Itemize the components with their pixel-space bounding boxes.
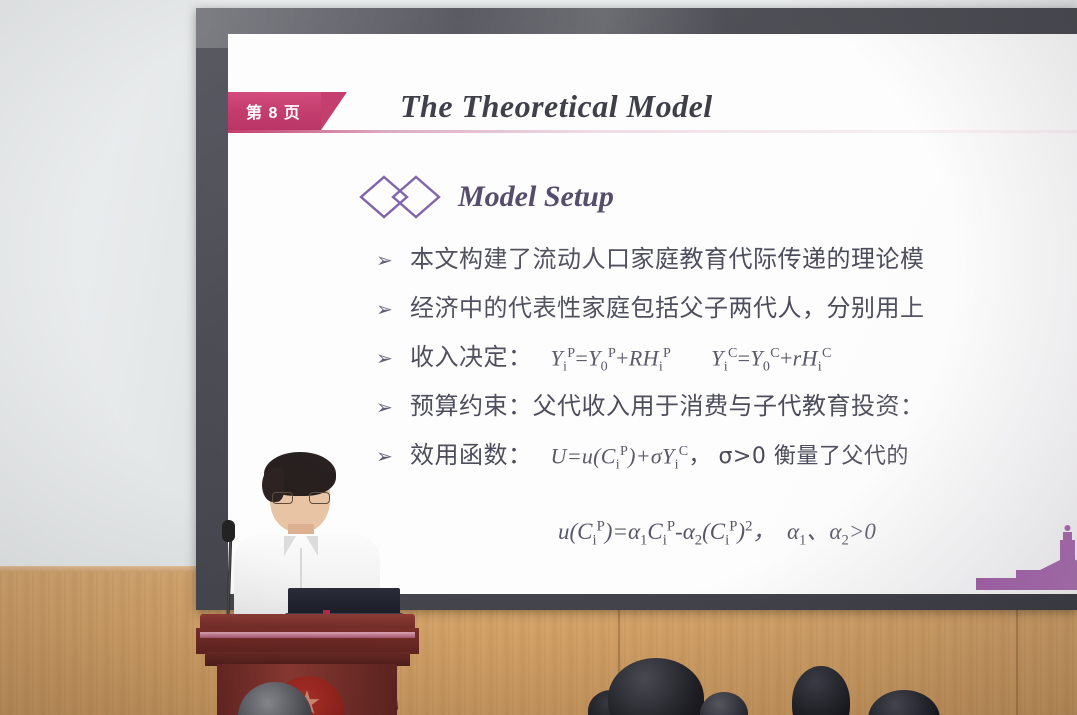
bullet-text: 经济中的代表性家庭包括父子两代人，分别用上	[410, 288, 925, 323]
shirt-collar-right	[306, 536, 318, 556]
laptop-screen[interactable]	[288, 588, 400, 616]
list-item: ➢ 收入决定： YiP=Y0P+RHiP YiC=Y0C+rHiC	[376, 337, 1077, 386]
bullet-label: 收入决定：	[410, 337, 533, 372]
podium-stripe	[200, 632, 415, 638]
utility-note: ， σ>0 衡量了父代的	[688, 438, 908, 470]
list-item: ➢ 效用函数： U=u(CiP)+σYiC ， σ>0 衡量了父代的	[376, 435, 1077, 484]
shirt-collar-left	[284, 536, 296, 556]
bullet-label: 效用函数：	[410, 435, 533, 470]
lecture-hall-scene: 第 8 页 The Theoretical Model Model Setup …	[0, 0, 1077, 715]
formula-sub-utility: u(CiP)=α1CiP-α2(CiP)2， α1、α2>0	[558, 512, 876, 550]
bullet-text: 本文构建了流动人口家庭教育代际传递的理论模	[410, 239, 925, 274]
list-item: ➢ 经济中的代表性家庭包括父子两代人，分别用上	[376, 288, 1077, 337]
slide-bullet-list: ➢ 本文构建了流动人口家庭教育代际传递的理论模 ➢ 经济中的代表性家庭包括父子两…	[376, 239, 1077, 484]
bullet-arrow-icon: ➢	[376, 397, 410, 417]
bullet-arrow-icon: ➢	[376, 299, 410, 319]
bullet-arrow-icon: ➢	[376, 250, 410, 270]
formula-income-child: YiC=Y0C+rHiC	[711, 345, 831, 376]
header-rule	[228, 130, 1077, 133]
bullet-text: 预算约束：父代收入用于消费与子代教育投资：	[410, 386, 925, 421]
formula-utility: U=u(CiP)+σYiC	[551, 443, 689, 474]
glasses-icon	[272, 492, 330, 504]
landmark-silhouette-icon	[968, 522, 1077, 594]
list-item: ➢ 预算约束：父代收入用于消费与子代教育投资：	[376, 386, 1077, 435]
page-number-badge: 第 8 页	[228, 92, 321, 130]
slide-title: The Theoretical Model	[400, 88, 713, 125]
double-diamond-icon	[358, 174, 444, 220]
microphone-head-icon	[222, 520, 235, 542]
section-heading-label: Model Setup	[458, 180, 614, 214]
list-item: ➢ 本文构建了流动人口家庭教育代际传递的理论模	[376, 239, 1077, 288]
section-heading: Model Setup	[358, 174, 614, 220]
formula-income-parent: YiP=Y0P+RHiP	[551, 345, 672, 376]
bullet-arrow-icon: ➢	[376, 348, 410, 368]
